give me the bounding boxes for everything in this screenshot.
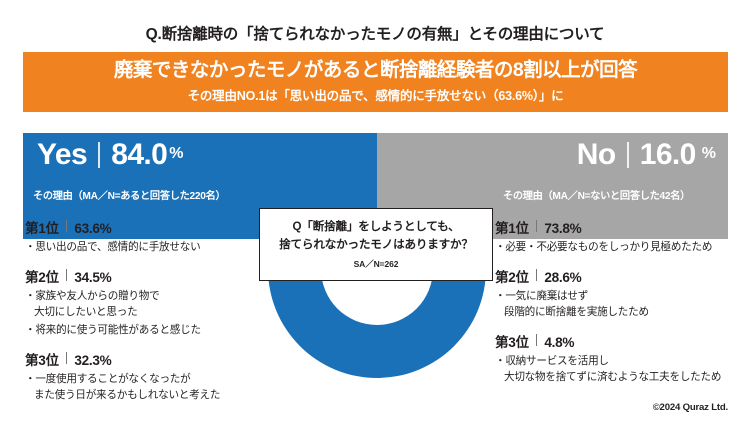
rank-heading: 第1位 73.8% bbox=[495, 217, 741, 237]
rank-item: ・家族や友人からの贈り物で bbox=[25, 289, 271, 304]
yes-divider bbox=[98, 142, 100, 168]
infographic-page: Q.断捨離時の「捨てられなかったモノの有無」とその理由について 廃棄できなかった… bbox=[0, 0, 750, 422]
reasons-column-yes: その理由（MA／N=あると回答した220名） 第1位 63.6% ・思い出の品で… bbox=[25, 184, 271, 403]
rank-name: 第2位 bbox=[25, 266, 59, 286]
rank-group: 第3位 4.8% ・収納サービスを活用し 大切な物を捨てずに済むような工夫をした… bbox=[495, 331, 741, 385]
rank-separator bbox=[536, 269, 538, 281]
rank-separator bbox=[536, 334, 538, 346]
rank-percent: 63.6% bbox=[74, 221, 111, 236]
rank-name: 第1位 bbox=[495, 217, 529, 237]
no-value: 16.0 bbox=[640, 140, 696, 170]
reasons-badge-no: その理由（MA／N=ないと回答した42名） bbox=[495, 184, 698, 206]
rank-percent: 34.5% bbox=[74, 270, 111, 285]
rank-separator bbox=[66, 220, 68, 232]
rank-separator bbox=[66, 269, 68, 281]
rank-percent: 28.6% bbox=[544, 270, 581, 285]
rank-item: ・一度使用することがなくなったが bbox=[25, 372, 271, 387]
rank-percent: 32.3% bbox=[74, 353, 111, 368]
copyright-footer: ©2024 Quraz Ltd. bbox=[653, 402, 728, 413]
reasons-badge-yes: その理由（MA／N=あると回答した220名） bbox=[25, 184, 233, 206]
question-box: Q「断捨離」をしようとしても、 捨てられなかったモノはありますか？ SA／N=2… bbox=[259, 208, 493, 281]
rank-separator bbox=[536, 220, 538, 232]
rank-name: 第1位 bbox=[25, 217, 59, 237]
reasons-column-no: その理由（MA／N=ないと回答した42名） 第1位 73.8% ・必要・不必要な… bbox=[495, 184, 741, 385]
rank-item: ・収納サービスを活用し bbox=[495, 354, 741, 369]
rank-name: 第3位 bbox=[495, 331, 529, 351]
rank-item: 大切にしたいと思った bbox=[25, 305, 271, 320]
question-sample-note: SA／N=262 bbox=[354, 258, 399, 270]
rank-item: また使う日が来るかもしれないと考えた bbox=[25, 388, 271, 403]
rank-item: ・一気に廃棄はせず bbox=[495, 289, 741, 304]
rank-separator bbox=[66, 352, 68, 364]
question-line-2: 捨てられなかったモノはありますか？ bbox=[279, 236, 473, 254]
rank-item: ・思い出の品で、感情的に手放せない bbox=[25, 240, 271, 255]
rank-percent: 73.8% bbox=[544, 221, 581, 236]
rank-group: 第1位 63.6% ・思い出の品で、感情的に手放せない bbox=[25, 217, 271, 255]
rank-group: 第2位 34.5% ・家族や友人からの贈り物で 大切にしたいと思った ・将来的に… bbox=[25, 266, 271, 338]
rank-group: 第2位 28.6% ・一気に廃棄はせず 段階的に断捨離を実施したため bbox=[495, 266, 741, 320]
yes-unit: % bbox=[169, 145, 183, 163]
page-title: Q.断捨離時の「捨てられなかったモノの有無」とその理由について bbox=[0, 22, 750, 44]
rank-heading: 第2位 28.6% bbox=[495, 266, 741, 286]
rank-heading: 第3位 4.8% bbox=[495, 331, 741, 351]
no-label: No bbox=[577, 140, 616, 170]
rank-item: ・将来的に使う可能性があると感じた bbox=[25, 323, 271, 338]
no-unit: % bbox=[702, 145, 716, 163]
headline-main: 廃棄できなかったモノがあると断捨離経験者の8割以上が回答 bbox=[114, 60, 637, 81]
rank-heading: 第2位 34.5% bbox=[25, 266, 271, 286]
headline-banner: 廃棄できなかったモノがあると断捨離経験者の8割以上が回答 その理由NO.1は「思… bbox=[23, 52, 728, 112]
rank-item: 大切な物を捨てずに済むような工夫をしたため bbox=[495, 370, 741, 385]
rank-name: 第3位 bbox=[25, 349, 59, 369]
headline-sub: その理由NO.1は「思い出の品で、感情的に手放せない（63.6%）」に bbox=[188, 85, 564, 104]
rank-name: 第2位 bbox=[495, 266, 529, 286]
rank-group: 第3位 32.3% ・一度使用することがなくなったが また使う日が来るかもしれな… bbox=[25, 349, 271, 403]
rank-item: ・必要・不必要なものをしっかり見極めたため bbox=[495, 240, 741, 255]
no-divider bbox=[627, 142, 629, 168]
rank-group: 第1位 73.8% ・必要・不必要なものをしっかり見極めたため bbox=[495, 217, 741, 255]
question-line-1: Q「断捨離」をしようとしても、 bbox=[292, 218, 459, 236]
rank-heading: 第3位 32.3% bbox=[25, 349, 271, 369]
yes-label: Yes bbox=[37, 140, 87, 170]
rank-item: 段階的に断捨離を実施したため bbox=[495, 305, 741, 320]
rank-percent: 4.8% bbox=[544, 335, 574, 350]
rank-heading: 第1位 63.6% bbox=[25, 217, 271, 237]
yes-value: 84.0 bbox=[111, 140, 167, 170]
